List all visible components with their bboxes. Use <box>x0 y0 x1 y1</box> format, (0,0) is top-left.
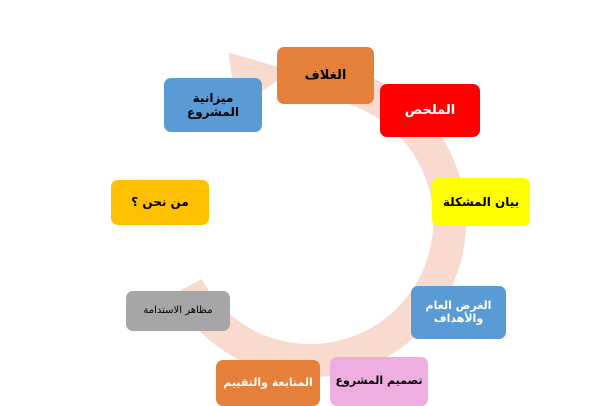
cycle-node-problem-statement[interactable]: بيان المشكلة <box>432 178 530 226</box>
cycle-node-sustainability-label: مظاهر الاستدامة <box>130 305 226 317</box>
cycle-node-sustainability[interactable]: مظاهر الاستدامة <box>126 291 230 331</box>
cycle-node-who-we-are-label: من نحن ؟ <box>115 195 205 209</box>
cycle-node-cover-label: الغلاف <box>281 68 370 83</box>
cycle-node-cover[interactable]: الغلاف <box>277 47 374 104</box>
cycle-node-project-design-label: تصميم المشروع <box>334 375 424 388</box>
cycle-node-project-design[interactable]: تصميم المشروع <box>330 357 428 406</box>
cycle-node-monitoring-evaluation[interactable]: المتابعة والتقييم <box>216 360 320 406</box>
cycle-node-problem-statement-label: بيان المشكلة <box>436 195 526 209</box>
cycle-node-project-budget-label: ميزانية المشروع <box>168 91 258 119</box>
cycle-node-purpose-and-objectives-label: الغرض العام والأهداف <box>415 300 502 326</box>
cycle-node-project-budget[interactable]: ميزانية المشروع <box>164 78 262 132</box>
cycle-node-purpose-and-objectives[interactable]: الغرض العام والأهداف <box>411 286 506 339</box>
cycle-diagram-canvas: الغلاف الملخص بيان المشكلة الغرض العام و… <box>0 0 611 406</box>
cycle-node-summary[interactable]: الملخص <box>380 84 480 137</box>
cycle-node-monitoring-evaluation-label: المتابعة والتقييم <box>220 377 316 390</box>
cycle-node-who-we-are[interactable]: من نحن ؟ <box>111 180 209 225</box>
cycle-node-summary-label: الملخص <box>384 103 476 118</box>
